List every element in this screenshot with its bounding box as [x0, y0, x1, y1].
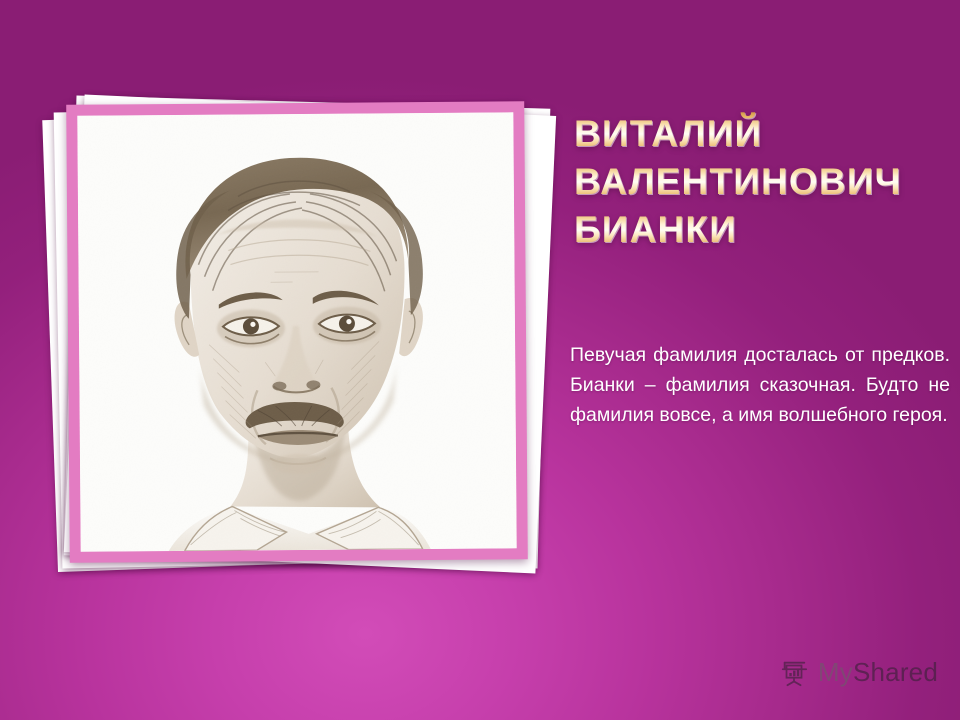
- body-paragraph: Певучая фамилия досталась от предков. Би…: [570, 340, 950, 430]
- page-title: Виталий Валентинович Бианки: [574, 110, 952, 254]
- watermark-label: MyShared: [818, 657, 938, 688]
- title-line-3: Бианки: [574, 206, 952, 254]
- presentation-slide: Виталий Валентинович Бианки Певучая фами…: [0, 0, 960, 720]
- watermark-my: My: [818, 657, 853, 687]
- title-line-2: Валентинович: [574, 158, 952, 206]
- myshared-watermark: MyShared: [779, 657, 938, 688]
- title-line-1: Виталий: [574, 110, 952, 158]
- presentation-board-icon: [779, 658, 809, 688]
- watermark-shared: Shared: [853, 657, 938, 687]
- portrait-drawing: [77, 112, 516, 551]
- portrait-frame: [66, 101, 528, 563]
- portrait-image: [77, 112, 516, 551]
- photo-stack: [44, 72, 544, 582]
